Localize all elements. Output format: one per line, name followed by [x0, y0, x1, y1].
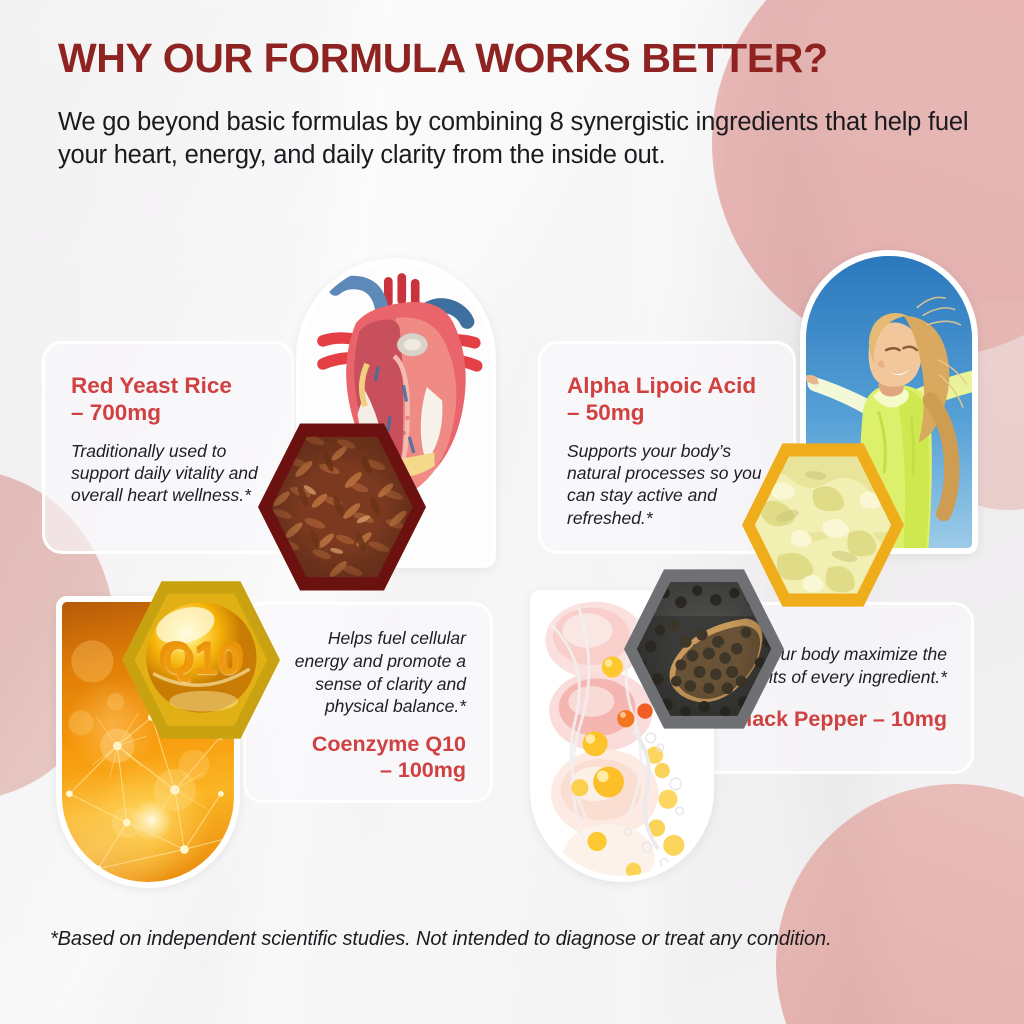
yellow-powder	[755, 454, 891, 597]
page-title: WHY OUR FORMULA WORKS BETTER?	[58, 36, 988, 80]
red-yeast-rice-grains	[271, 434, 412, 580]
footnote-disclaimer: *Based on independent scientific studies…	[50, 928, 832, 951]
q10-golden-softgel: Q10	[135, 591, 268, 729]
infographic-poster: WHY OUR FORMULA WORKS BETTER? We go beyo…	[0, 0, 1024, 1024]
card-coenzyme-q10-description: Helps fuel cellular energy and promote a…	[270, 627, 466, 718]
card-alpha-lipoic-acid-title: Alpha Lipoic Acid – 50mg	[567, 372, 793, 426]
page-subtitle: We go beyond basic formulas by combining…	[58, 106, 988, 171]
card-red-yeast-rice-title: Red Yeast Rice – 700mg	[71, 372, 291, 426]
card-alpha-lipoic-acid-description: Supports your body’s natural processes s…	[567, 440, 767, 529]
card-coenzyme-q10[interactable]: Helps fuel cellular energy and promote a…	[243, 602, 493, 803]
card-coenzyme-q10-title: Coenzyme Q10 – 100mg	[270, 732, 466, 784]
header: WHY OUR FORMULA WORKS BETTER? We go beyo…	[58, 36, 988, 172]
svg-text:Q10: Q10	[158, 632, 245, 684]
card-red-yeast-rice[interactable]: Red Yeast Rice – 700mg Traditionally use…	[42, 341, 294, 554]
card-red-yeast-rice-description: Traditionally used to support daily vita…	[71, 440, 261, 507]
black-peppercorns-wooden-scoop	[637, 579, 771, 718]
decorative-circle-bottom-right	[776, 784, 1024, 1024]
